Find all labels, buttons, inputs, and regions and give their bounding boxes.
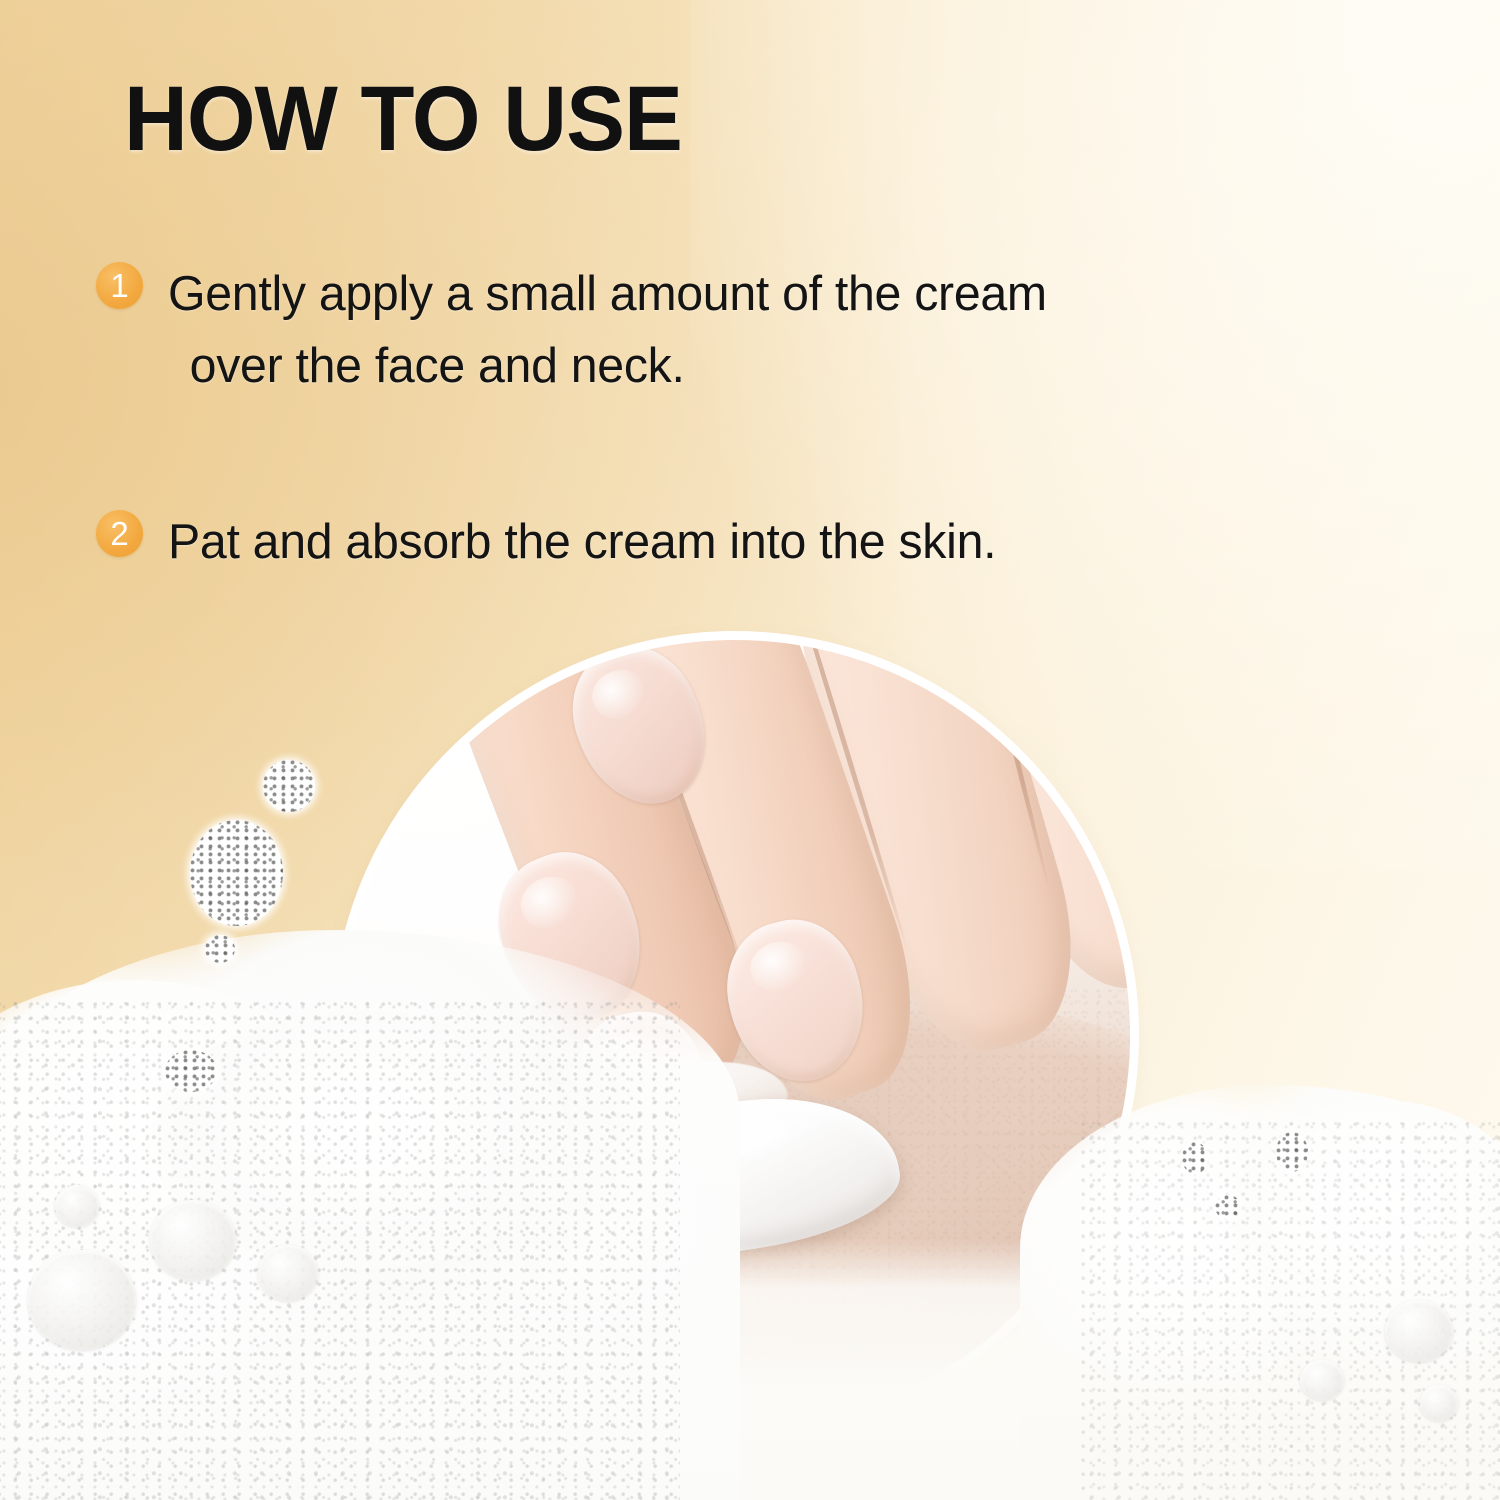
foam-bubble-icon [1385, 1300, 1453, 1362]
page-title: HOW TO USE [124, 73, 682, 165]
foam-bubble-icon [190, 820, 283, 926]
foam-bubble-icon [150, 1200, 236, 1280]
step-item-1: 1 Gently apply a small amount of the cre… [96, 258, 1316, 402]
foam-bubble-icon [1300, 1360, 1344, 1400]
step-item-2: 2 Pat and absorb the cream into the skin… [96, 506, 1316, 578]
instruction-steps: 1 Gently apply a small amount of the cre… [96, 258, 1316, 578]
foam-bubble-icon [1276, 1132, 1308, 1172]
nail-highlight [745, 936, 813, 997]
step-line-1a: Gently apply a small amount of the cream [168, 267, 1047, 321]
infographic-canvas: HOW TO USE 1 Gently apply a small amount… [0, 0, 1500, 1500]
step-line-1b: over the face and neck. [168, 330, 1299, 402]
step-line-2a: Pat and absorb the cream into the skin. [168, 515, 996, 569]
foam-bubble-icon [263, 760, 315, 812]
foam-bubble-icon [1420, 1385, 1458, 1421]
foam-bubble-icon [28, 1250, 136, 1350]
foam-bubble-icon [205, 935, 235, 963]
nail-highlight [514, 869, 587, 937]
foam-bubble-icon [165, 1050, 217, 1092]
application-photo [340, 640, 1130, 1430]
step-number-badge-1: 1 [96, 262, 143, 309]
foam-bubble-icon [55, 1185, 99, 1227]
foam-bubble-icon [258, 1245, 318, 1301]
step-text-1: Gently apply a small amount of the cream… [168, 258, 1299, 402]
step-text-2: Pat and absorb the cream into the skin. [168, 506, 1299, 578]
step-number-badge-2: 2 [96, 510, 143, 557]
foam-bubble-icon [1182, 1142, 1208, 1174]
photo-background [340, 640, 1130, 1430]
nail-highlight [585, 662, 654, 727]
foam-bubble-icon [1215, 1195, 1241, 1219]
